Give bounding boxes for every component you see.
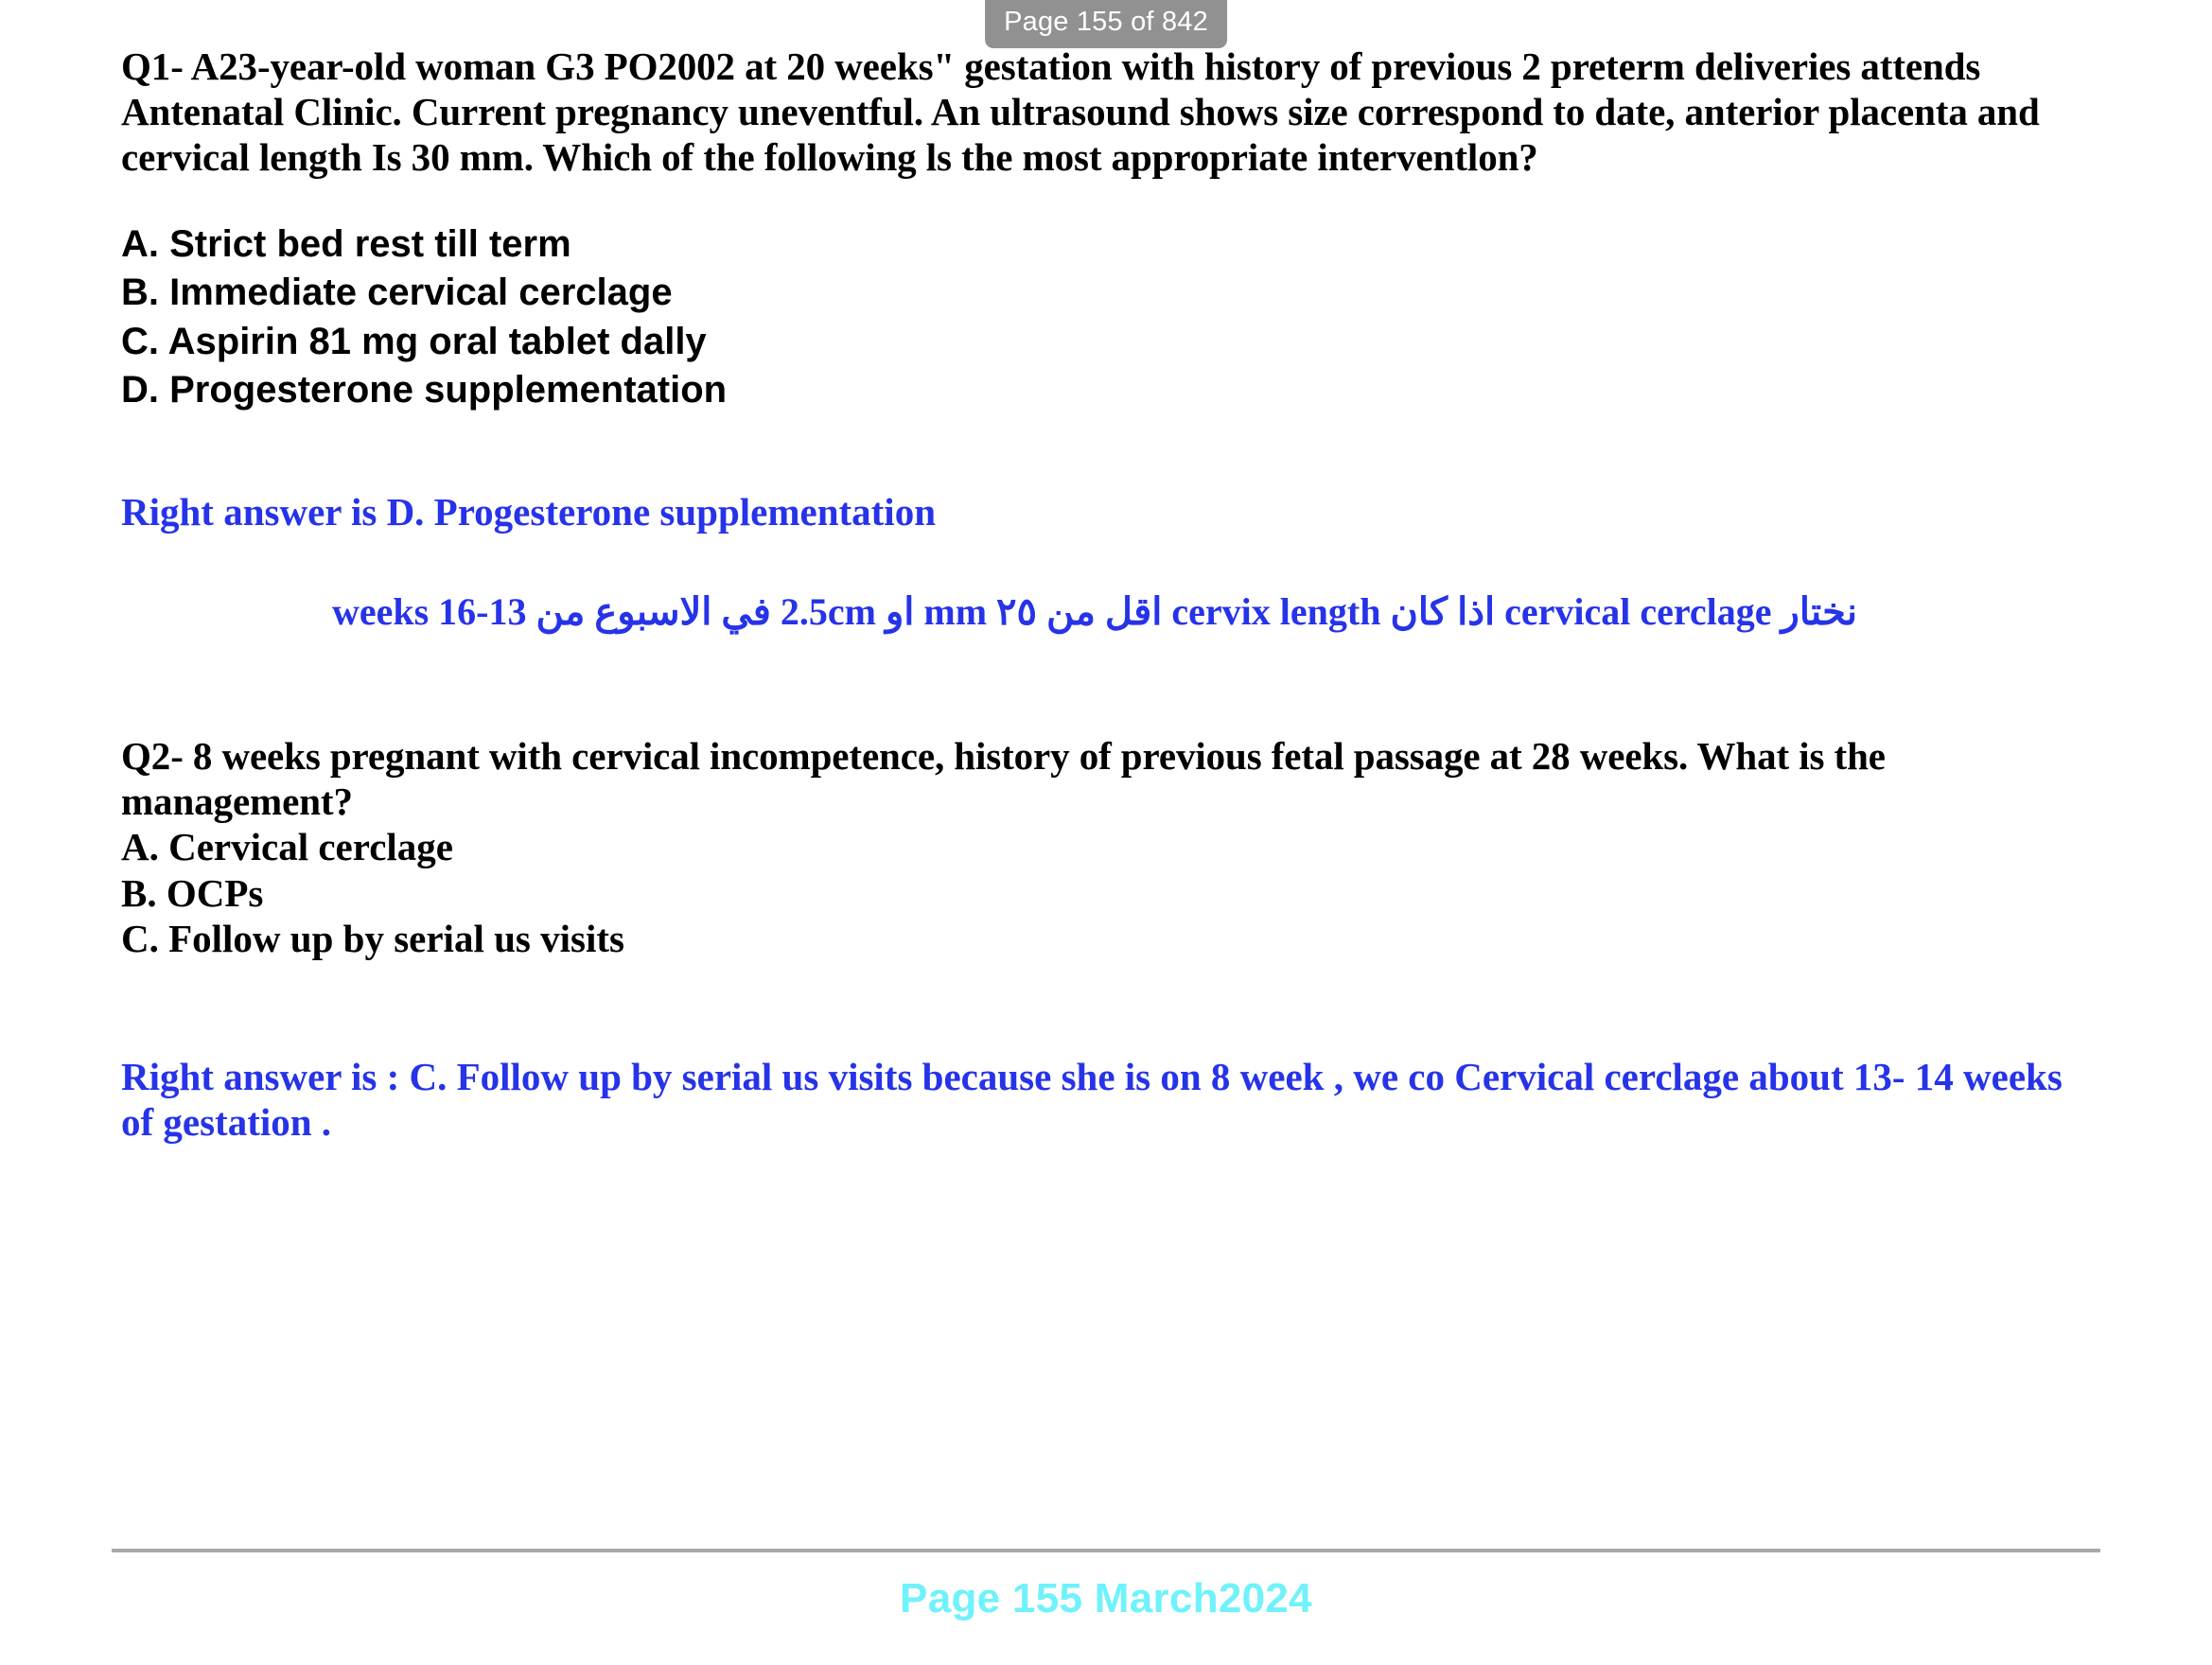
question-2-option-a[interactable]: A. Cervical cerclage — [121, 824, 2100, 869]
question-2-answer-line-1: Right answer is : C. Follow up by serial… — [121, 1055, 1844, 1098]
spacer — [121, 961, 2100, 1054]
question-1-option-c[interactable]: C. Aspirin 81 mg oral tablet dally — [121, 318, 2100, 367]
question-1-option-d[interactable]: D. Progesterone supplementation — [121, 366, 2100, 415]
question-2-answer: Right answer is : C. Follow up by serial… — [121, 1054, 2100, 1145]
question-1-answer: Right answer is D. Progesterone suppleme… — [121, 489, 2100, 535]
question-1-option-a[interactable]: A. Strict bed rest till term — [121, 220, 2100, 270]
question-2-stem: Q2- 8 weeks pregnant with cervical incom… — [121, 733, 2100, 824]
question-2-option-b[interactable]: B. OCPs — [121, 870, 2100, 916]
page-indicator-badge: Page 155 of 842 — [985, 0, 1227, 48]
document-page: Q1- A23-year-old woman G3 PO2002 at 20 w… — [0, 0, 2212, 1665]
spacer — [121, 415, 2100, 489]
spacer — [121, 635, 2100, 733]
question-1-option-b[interactable]: B. Immediate cervical cerclage — [121, 269, 2100, 318]
question-2-option-c[interactable]: C. Follow up by serial us visits — [121, 916, 2100, 961]
question-1-options: A. Strict bed rest till term B. Immediat… — [121, 220, 2100, 415]
question-2-options: A. Cervical cerclage B. OCPs C. Follow u… — [121, 824, 2100, 961]
question-1-stem: Q1- A23-year-old woman G3 PO2002 at 20 w… — [121, 44, 2100, 181]
spacer — [121, 535, 2100, 589]
footer-page-label: Page 155 March2024 — [0, 1578, 2212, 1620]
footer-divider — [112, 1549, 2100, 1552]
question-1-arabic-note: نختار cervical cerclage اذا كان cervix l… — [121, 589, 2100, 635]
